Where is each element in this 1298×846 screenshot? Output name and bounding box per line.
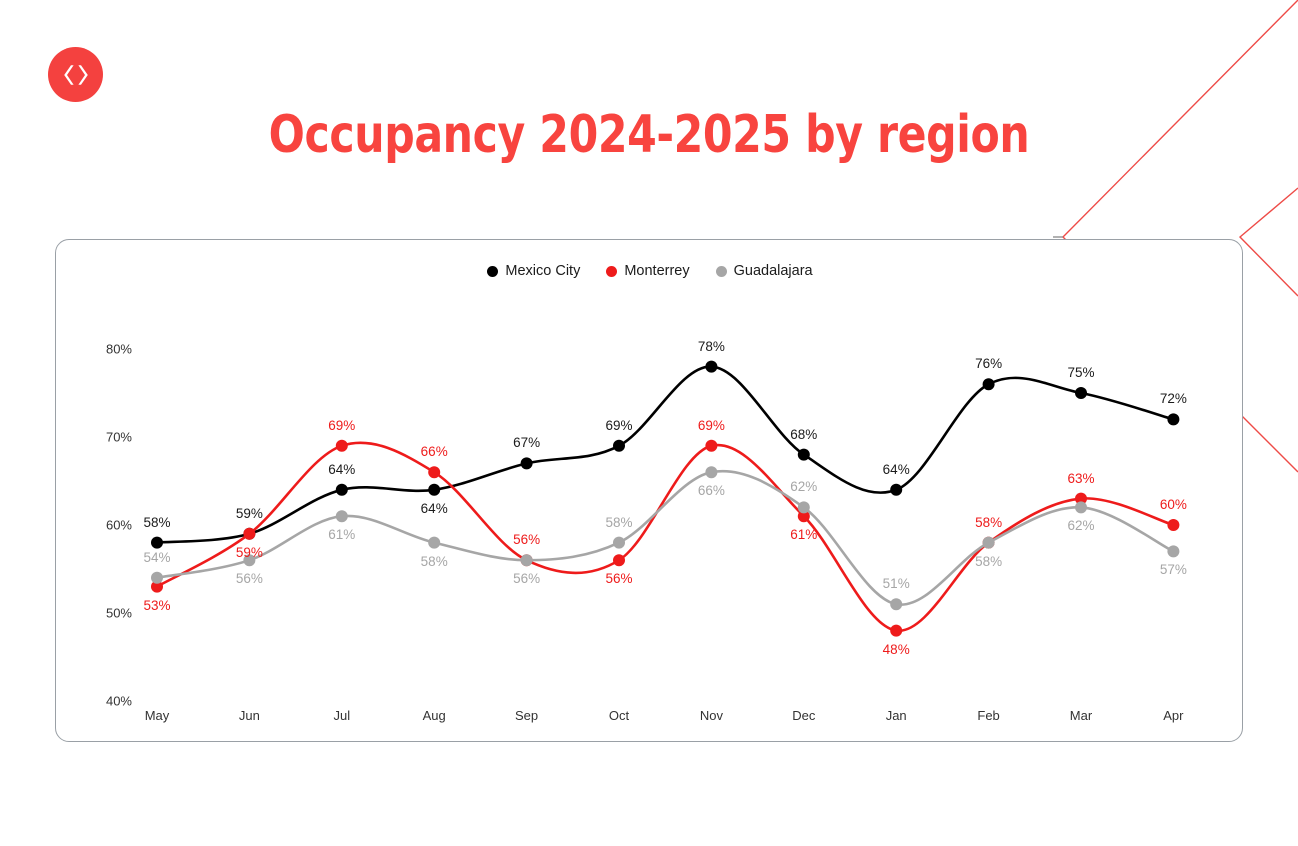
- x-axis-tick-label: Sep: [497, 708, 557, 723]
- data-point-label: 61%: [774, 527, 834, 542]
- series-line-monterrey: [157, 443, 1173, 631]
- data-point-label: 56%: [497, 532, 557, 547]
- data-point-marker[interactable]: [983, 378, 995, 390]
- data-point-marker[interactable]: [336, 484, 348, 496]
- data-point-label: 64%: [312, 462, 372, 477]
- data-point-marker[interactable]: [428, 537, 440, 549]
- data-point-label: 58%: [959, 554, 1019, 569]
- line-chart-plot: 40%50%60%70%80%MayJunJulAugSepOctNovDecJ…: [56, 240, 1244, 743]
- data-point-label: 56%: [497, 571, 557, 586]
- data-point-marker[interactable]: [890, 625, 902, 637]
- data-point-marker[interactable]: [151, 537, 163, 549]
- data-point-marker[interactable]: [613, 554, 625, 566]
- series-line-mexico-city: [157, 367, 1173, 543]
- chevron-left-outline-icon: [1240, 188, 1298, 296]
- data-point-label: 48%: [866, 642, 926, 657]
- data-point-marker[interactable]: [521, 554, 533, 566]
- data-point-label: 75%: [1051, 365, 1111, 380]
- brand-logo: [48, 47, 103, 102]
- data-point-marker[interactable]: [1075, 501, 1087, 513]
- y-axis-tick-label: 40%: [86, 694, 132, 709]
- data-point-label: 60%: [1143, 497, 1203, 512]
- data-point-marker[interactable]: [1167, 545, 1179, 557]
- data-point-marker[interactable]: [798, 449, 810, 461]
- data-point-label: 64%: [866, 462, 926, 477]
- x-axis-tick-label: Jun: [219, 708, 279, 723]
- x-axis-tick-label: Nov: [681, 708, 741, 723]
- y-axis-tick-label: 80%: [86, 342, 132, 357]
- data-point-label: 59%: [219, 545, 279, 560]
- x-axis-tick-label: Mar: [1051, 708, 1111, 723]
- x-axis-tick-label: Apr: [1143, 708, 1203, 723]
- data-point-marker[interactable]: [1075, 387, 1087, 399]
- data-point-marker[interactable]: [336, 440, 348, 452]
- x-axis-tick-label: Jan: [866, 708, 926, 723]
- data-point-label: 69%: [312, 418, 372, 433]
- data-point-label: 57%: [1143, 562, 1203, 577]
- chart-svg: [56, 240, 1244, 743]
- x-axis-tick-label: Aug: [404, 708, 464, 723]
- data-point-marker[interactable]: [613, 440, 625, 452]
- y-axis-tick-label: 70%: [86, 430, 132, 445]
- data-point-label: 51%: [866, 576, 926, 591]
- data-point-marker[interactable]: [1167, 413, 1179, 425]
- data-point-marker[interactable]: [705, 466, 717, 478]
- x-axis-tick-label: Jul: [312, 708, 372, 723]
- data-point-marker[interactable]: [705, 361, 717, 373]
- data-point-marker[interactable]: [521, 457, 533, 469]
- data-point-label: 72%: [1143, 391, 1203, 406]
- data-point-marker[interactable]: [983, 537, 995, 549]
- code-brackets-icon: [61, 64, 91, 86]
- data-point-marker[interactable]: [428, 466, 440, 478]
- data-point-label: 58%: [404, 554, 464, 569]
- data-point-label: 61%: [312, 527, 372, 542]
- data-point-label: 58%: [589, 515, 649, 530]
- data-point-label: 53%: [127, 598, 187, 613]
- data-point-label: 66%: [681, 483, 741, 498]
- x-axis-tick-label: Feb: [959, 708, 1019, 723]
- data-point-label: 62%: [774, 479, 834, 494]
- data-point-label: 58%: [959, 515, 1019, 530]
- x-axis-tick-label: Dec: [774, 708, 834, 723]
- data-point-label: 64%: [404, 501, 464, 516]
- data-point-marker[interactable]: [798, 501, 810, 513]
- data-point-marker[interactable]: [613, 537, 625, 549]
- data-point-label: 62%: [1051, 518, 1111, 533]
- data-point-marker[interactable]: [336, 510, 348, 522]
- x-axis-tick-label: Oct: [589, 708, 649, 723]
- data-point-label: 59%: [219, 506, 279, 521]
- y-axis-tick-label: 50%: [86, 606, 132, 621]
- data-point-marker[interactable]: [890, 598, 902, 610]
- data-point-marker[interactable]: [243, 528, 255, 540]
- data-point-label: 56%: [589, 571, 649, 586]
- data-point-marker[interactable]: [151, 572, 163, 584]
- series-line-guadalajara: [157, 471, 1173, 605]
- chart-card: Mexico CityMonterreyGuadalajara 40%50%60…: [55, 239, 1243, 742]
- data-point-label: 67%: [497, 435, 557, 450]
- data-point-label: 63%: [1051, 471, 1111, 486]
- data-point-label: 66%: [404, 444, 464, 459]
- data-point-label: 56%: [219, 571, 279, 586]
- y-axis-tick-label: 60%: [86, 518, 132, 533]
- data-point-marker[interactable]: [705, 440, 717, 452]
- data-point-label: 54%: [127, 550, 187, 565]
- data-point-label: 76%: [959, 356, 1019, 371]
- x-axis-tick-label: May: [127, 708, 187, 723]
- data-point-label: 58%: [127, 515, 187, 530]
- data-point-label: 78%: [681, 339, 741, 354]
- data-point-marker[interactable]: [1167, 519, 1179, 531]
- data-point-label: 69%: [589, 418, 649, 433]
- data-point-marker[interactable]: [890, 484, 902, 496]
- page-title: Occupancy 2024-2025 by region: [117, 103, 1181, 167]
- data-point-label: 69%: [681, 418, 741, 433]
- data-point-label: 68%: [774, 427, 834, 442]
- data-point-marker[interactable]: [428, 484, 440, 496]
